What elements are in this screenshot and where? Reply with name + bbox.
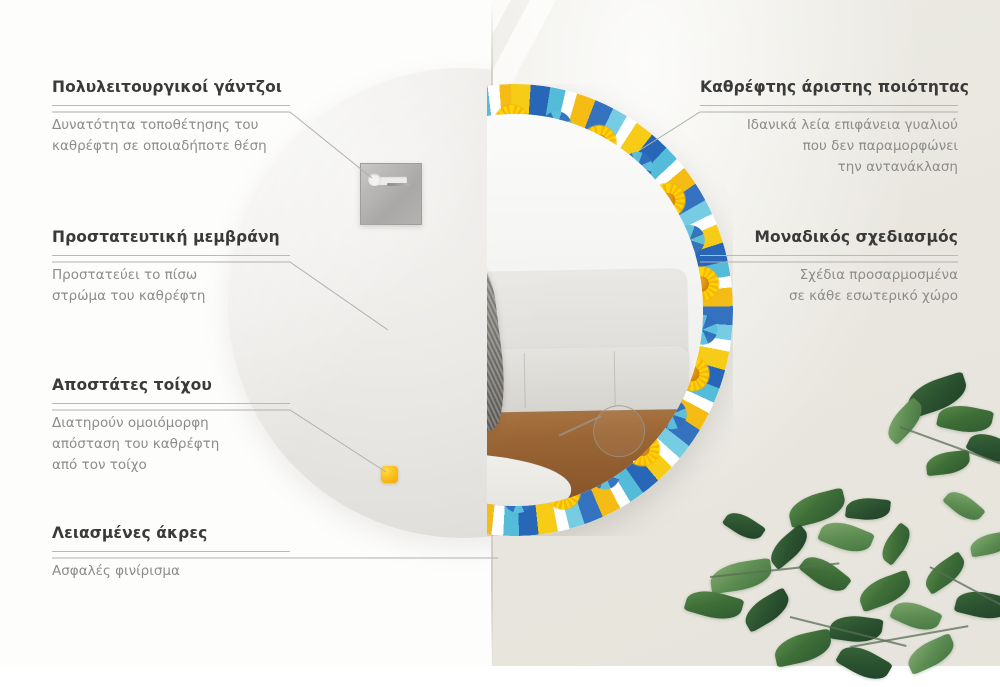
leaf [903, 633, 958, 675]
callout-spacers: Αποστάτες τοίχου Διατηρούν ομοιόμορφη απ… [52, 376, 290, 476]
leaf [942, 485, 985, 526]
callout-unique-design-body: Σχέδια προσαρμοσμένα σε κάθε εσωτερικό χ… [700, 265, 958, 307]
callout-edges-rule [52, 551, 290, 552]
wall-spacer [381, 466, 398, 483]
callout-spacers-title: Αποστάτες τοίχου [52, 376, 290, 394]
callout-edges-body: Ασφαλές φινίρισμα [52, 561, 290, 582]
leaf [965, 427, 1000, 470]
leaf [722, 507, 766, 546]
reflected-sofa-seat [487, 346, 690, 415]
leaf [835, 639, 893, 687]
callout-membrane-rule [52, 255, 290, 256]
leaf [925, 450, 971, 476]
callout-membrane-body: Προστατεύει το πίσω στρώμα του καθρέφτη [52, 265, 290, 307]
callout-spacers-body: Διατηρούν ομοιόμορφη απόσταση του καθρέφ… [52, 413, 290, 476]
callout-quality-mirror-rule [700, 105, 958, 106]
callout-spacers-rule [52, 403, 290, 404]
callout-membrane: Προστατευτική μεμβράνη Προστατεύει το πί… [52, 228, 290, 307]
leaf [739, 587, 794, 633]
callout-unique-design-rule [700, 255, 958, 256]
callout-hooks-rule [52, 105, 290, 106]
callout-quality-mirror-body: Ιδανικά λεία επιφάνεια γυαλιού που δεν π… [700, 115, 958, 178]
leaf [772, 628, 835, 667]
callout-unique-design-title: Μοναδικός σχεδιασμός [700, 228, 958, 246]
callout-hooks: Πολυλειτουργικοί γάντζοι Δυνατότητα τοπο… [52, 78, 290, 157]
callout-edges: Λειασμένες άκρες Ασφαλές φινίρισμα [52, 524, 290, 582]
leaf [876, 522, 916, 566]
infographic-stage: Πολυλειτουργικοί γάντζοι Δυνατότητα τοπο… [0, 0, 1000, 666]
callout-unique-design: Μοναδικός σχεδιασμός Σχέδια προσαρμοσμέν… [700, 228, 958, 307]
callout-hooks-title: Πολυλειτουργικοί γάντζοι [52, 78, 290, 96]
foliage-decoration [670, 366, 1000, 666]
callout-quality-mirror-title: Καθρέφτης άριστης ποιότητας [700, 78, 958, 96]
leaf [798, 549, 852, 599]
leaf [817, 515, 875, 559]
hanging-plate [360, 163, 422, 225]
leaf [845, 496, 891, 522]
callout-quality-mirror: Καθρέφτης άριστης ποιότητας Ιδανικά λεία… [700, 78, 958, 178]
callout-hooks-body: Δυνατότητα τοποθέτησης του καθρέφτη σε ο… [52, 115, 290, 157]
callout-edges-title: Λειασμένες άκρες [52, 524, 290, 542]
callout-membrane-title: Προστατευτική μεμβράνη [52, 228, 290, 246]
leaf [969, 531, 1000, 558]
hook-bar-icon [387, 183, 409, 186]
